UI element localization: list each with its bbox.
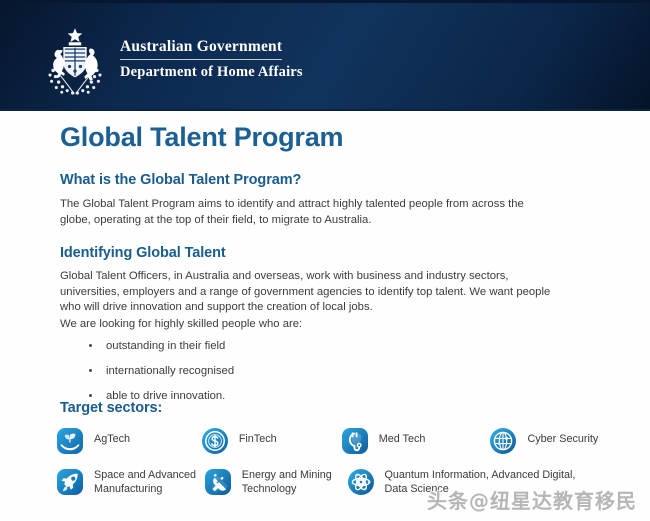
atom-icon xyxy=(347,468,375,496)
heading-what-is-global-talent-program: What is the Global Talent Program? xyxy=(60,172,301,188)
sector-item-space-and-advanced-manufacturing: Space and Advanced Manufacturing xyxy=(56,468,204,496)
sector-label: Energy and Mining Technology xyxy=(242,468,332,496)
bottom-fade xyxy=(0,512,650,521)
paragraph-identifying: Global Talent Officers, in Australia and… xyxy=(60,269,565,316)
medical-cross-icon xyxy=(341,427,369,455)
sector-label: Med Tech xyxy=(379,427,426,447)
coin-dollar-icon xyxy=(201,427,229,455)
australian-coat-of-arms-icon xyxy=(36,22,114,100)
list-item: internationally recognised xyxy=(100,364,520,378)
globe-network-icon xyxy=(489,427,517,455)
australian-government-text: Australian Government xyxy=(120,38,410,56)
sector-item-cyber-security: Cyber Security xyxy=(489,427,646,455)
sector-label: Quantum Information, Advanced Digital, D… xyxy=(385,468,576,496)
department-name-text: Department of Home Affairs xyxy=(120,64,410,81)
document-page: Australian Government Department of Home… xyxy=(0,0,650,521)
sector-label: Space and Advanced Manufacturing xyxy=(94,468,196,496)
sector-item-fintech: FinTech xyxy=(201,427,341,455)
power-plug-icon xyxy=(204,468,232,496)
target-sectors-grid: AgTech xyxy=(56,427,646,509)
list-item: outstanding in their field xyxy=(100,339,520,353)
site-header-banner: Australian Government Department of Home… xyxy=(0,0,650,111)
sector-item-agtech: AgTech xyxy=(56,427,201,455)
sector-label: AgTech xyxy=(94,427,130,447)
page-title: Global Talent Program xyxy=(60,122,343,153)
wordmark-divider xyxy=(120,59,282,60)
government-wordmark: Australian Government Department of Home… xyxy=(120,38,410,81)
sector-row: Space and Advanced Manufacturing xyxy=(56,468,646,496)
heading-identifying-global-talent: Identifying Global Talent xyxy=(60,245,226,261)
heading-target-sectors: Target sectors: xyxy=(60,400,162,416)
hand-plant-icon xyxy=(56,427,84,455)
document-body: Global Talent Program What is the Global… xyxy=(0,111,650,521)
paragraph-what-is: The Global Talent Program aims to identi… xyxy=(60,197,555,228)
sector-item-energy-and-mining-technology: Energy and Mining Technology xyxy=(204,468,347,496)
rocket-icon xyxy=(56,468,84,496)
banner-top-edge xyxy=(0,0,650,3)
sector-item-med-tech: Med Tech xyxy=(341,427,490,455)
sector-label: FinTech xyxy=(239,427,277,447)
paragraph-lead-in: We are looking for highly skilled people… xyxy=(60,317,555,333)
sector-item-quantum-information: Quantum Information, Advanced Digital, D… xyxy=(347,468,647,496)
list-item: able to drive innovation. xyxy=(100,389,520,403)
sector-label: Cyber Security xyxy=(527,427,598,447)
sector-row: AgTech xyxy=(56,427,646,455)
